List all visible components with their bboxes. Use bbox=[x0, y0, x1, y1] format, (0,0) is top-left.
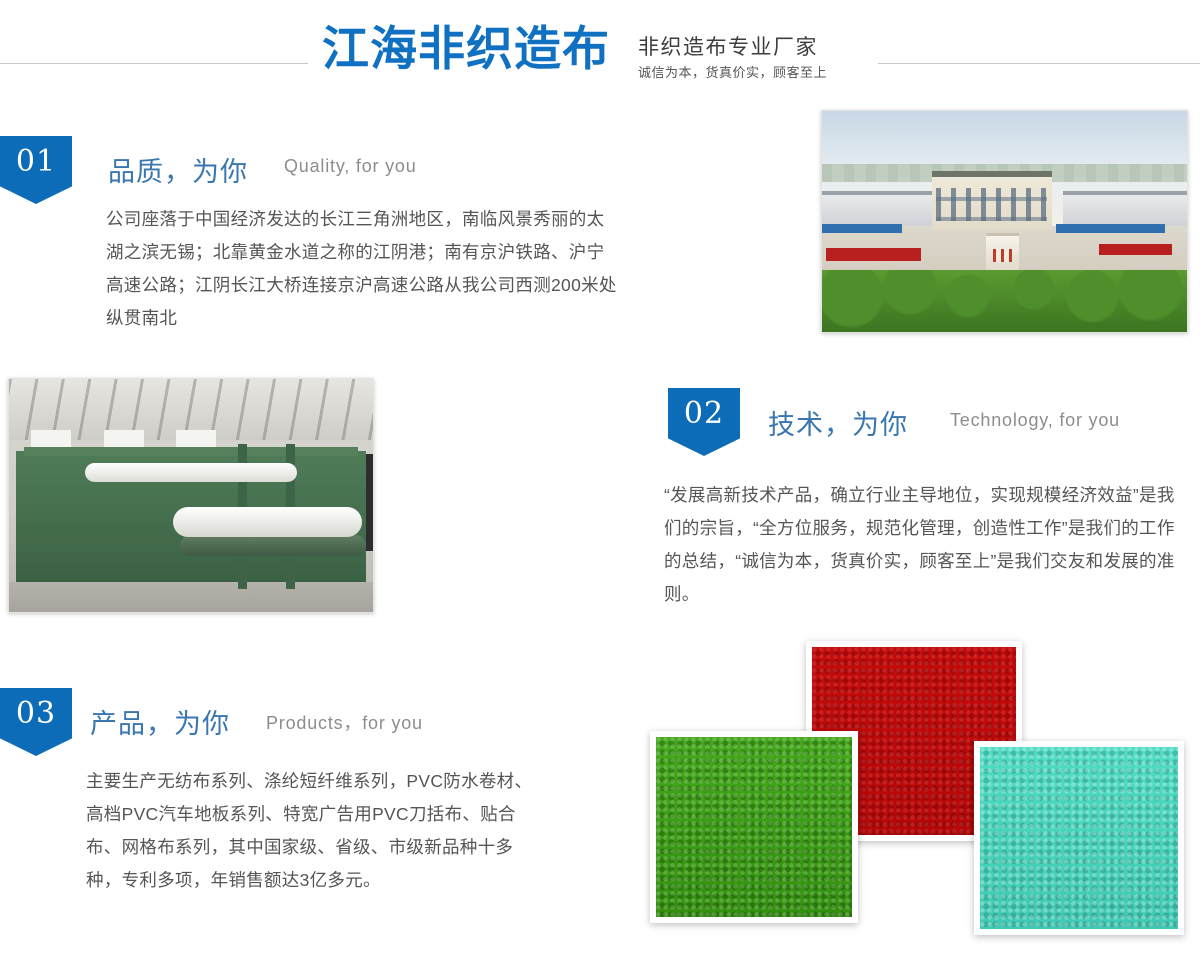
section-title-01: 品质，为你 bbox=[108, 150, 248, 189]
machinery-photo bbox=[8, 378, 374, 613]
section-subtitle-01: Quality, for you bbox=[284, 156, 417, 177]
factory-building-photo bbox=[821, 110, 1188, 333]
section-title-02: 技术，为你 bbox=[768, 403, 908, 442]
header-divider-left bbox=[0, 63, 308, 64]
brand-title: 江海非织造布 bbox=[322, 21, 610, 77]
header-divider-right bbox=[878, 63, 1200, 64]
page-header: 江海非织造布 非织造布专业厂家 诚信为本，货真价实，顾客至上 bbox=[0, 0, 1200, 100]
section-badge-01: 01 bbox=[0, 136, 72, 204]
green-pvc-swatch bbox=[650, 731, 858, 923]
section-body-03: 主要生产无纺布系列、涤纶短纤维系列，PVC防水卷材、高档PVC汽车地板系列、特宽… bbox=[86, 765, 540, 897]
section-badge-03: 03 bbox=[0, 688, 72, 756]
section-badge-02: 02 bbox=[668, 388, 740, 456]
section-body-02: “发展高新技术产品，确立行业主导地位，实现规模经济效益”是我们的宗旨，“全方位服… bbox=[664, 479, 1187, 611]
section-title-03: 产品，为你 bbox=[90, 702, 230, 741]
section-body-01: 公司座落于中国经济发达的长江三角洲地区，南临风景秀丽的太湖之滨无锡；北靠黄金水道… bbox=[106, 203, 618, 335]
section-subtitle-02: Technology, for you bbox=[950, 410, 1120, 431]
brand-tagline: 诚信为本，货真价实，顾客至上 bbox=[638, 62, 827, 81]
cyan-pvc-swatch bbox=[974, 741, 1184, 935]
section-subtitle-03: Products，for you bbox=[266, 709, 423, 735]
brand-slogan: 非织造布专业厂家 bbox=[638, 31, 818, 61]
